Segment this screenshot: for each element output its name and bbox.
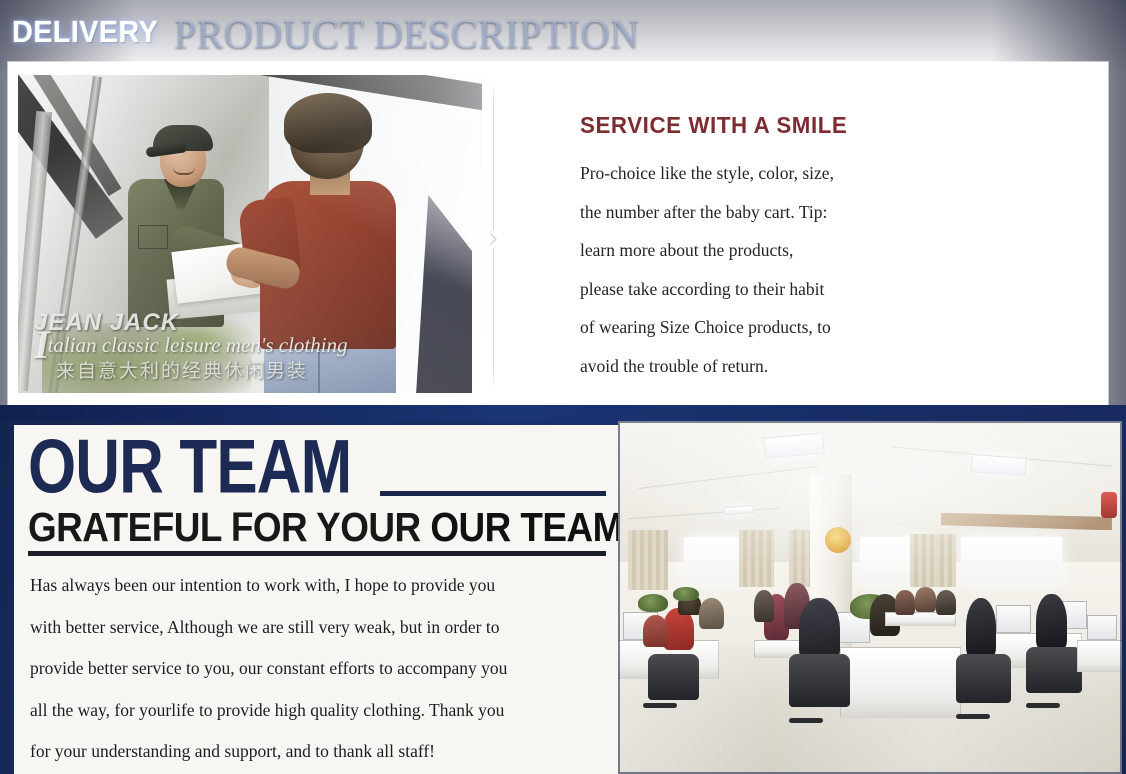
brand-tagline-overlay: Italian classic leisure men's clothing [34, 333, 348, 357]
our-team-body: Has always been our intention to work wi… [30, 577, 608, 774]
office-chair [648, 654, 698, 700]
office-person [936, 590, 956, 615]
delivery-heading: DELIVERY [12, 14, 158, 50]
ceiling-light [724, 505, 755, 516]
office-person [754, 590, 774, 622]
service-copy-line: of wearing Size Choice products, to [580, 319, 1010, 337]
service-copy-line: please take according to their habit [580, 281, 1010, 299]
office-window [684, 537, 744, 583]
our-team-body-line: Has always been our intention to work wi… [30, 577, 608, 595]
office-chair-base [643, 703, 677, 708]
our-team-text-card: OUR TEAM GRATEFUL FOR YOUR OUR TEAM Has … [14, 425, 618, 774]
customer-hair [284, 93, 372, 153]
open-plan-office-team-photo [618, 421, 1122, 774]
office-red-decoration [1101, 492, 1117, 518]
product-description-banner: DELIVERY PRODUCT DESCRIPTION [0, 0, 1126, 774]
our-team-title-row: OUR TEAM [28, 431, 606, 505]
office-person [799, 598, 839, 662]
office-window [961, 537, 1062, 583]
service-copy-line: learn more about the products, [580, 242, 1010, 260]
office-person [699, 598, 724, 630]
office-wall-clock [825, 527, 851, 553]
delivery-content-card: JEAN JACK Italian classic leisure men's … [8, 62, 1108, 406]
service-copy-line: Pro-choice like the style, color, size, [580, 165, 1010, 183]
our-team-body-line: all the way, for yourlife to provide hig… [30, 702, 608, 720]
delivery-banner-section: DELIVERY PRODUCT DESCRIPTION [0, 0, 1126, 421]
office-chair-base [789, 718, 823, 723]
office-monitor [1087, 615, 1117, 640]
banner-header: DELIVERY PRODUCT DESCRIPTION [0, 0, 1126, 62]
office-person [1036, 594, 1066, 650]
office-person [895, 590, 915, 615]
office-curtain [739, 530, 774, 586]
our-team-headings: OUR TEAM GRATEFUL FOR YOUR OUR TEAM [28, 431, 606, 505]
office-desk [1077, 640, 1122, 672]
office-plant [638, 594, 668, 612]
office-person [966, 598, 996, 658]
office-curtain [936, 534, 956, 587]
office-chair-base [956, 714, 990, 719]
office-person [643, 615, 668, 647]
office-person [915, 587, 935, 612]
our-team-body-line: for your understanding and support, and … [30, 743, 608, 761]
office-chair [1026, 647, 1081, 693]
tagline-dropcap: I [34, 322, 48, 367]
our-team-subtitle-accent: OUR TEAM [430, 504, 618, 550]
service-copy-title: SERVICE WITH A SMILE [580, 112, 997, 139]
our-team-body-line: with better service, Although we are sti… [30, 619, 608, 637]
courier-pocket [138, 225, 168, 249]
service-copy-block: SERVICE WITH A SMILE Pro-choice like the… [580, 112, 1010, 396]
brand-tagline-chinese: 来自意大利的经典休闲男装 [56, 356, 348, 383]
our-team-body-line: provide better service to you, our const… [30, 660, 608, 678]
tagline-text: talian classic leisure men's clothing [48, 333, 348, 357]
subtitle-underline-long [28, 551, 606, 556]
title-underline-short [380, 491, 606, 496]
office-chair [789, 654, 849, 707]
office-monitor [996, 605, 1031, 633]
brand-name-overlay: JEAN JACK [34, 311, 348, 335]
chevron-right-icon [487, 230, 500, 248]
office-chair-base [1026, 703, 1060, 708]
courier-handing-parcel-photo: JEAN JACK Italian classic leisure men's … [18, 75, 482, 393]
office-plant [673, 587, 698, 601]
our-team-subtitle: GRATEFUL FOR YOUR OUR TEAM [28, 507, 618, 548]
our-team-subtitle-prefix: GRATEFUL FOR YOUR [28, 504, 430, 550]
service-copy-line: avoid the trouble of return. [580, 358, 1010, 376]
our-team-title: OUR TEAM [28, 429, 351, 505]
office-chair [956, 654, 1011, 703]
office-curtain [628, 530, 668, 590]
office-desk [840, 647, 961, 718]
photo-text-overlay: JEAN JACK Italian classic leisure men's … [34, 311, 348, 383]
product-description-heading: PRODUCT DESCRIPTION [174, 10, 640, 58]
service-copy-line: the number after the baby cart. Tip: [580, 204, 1010, 222]
section-separator-band [0, 405, 1126, 421]
